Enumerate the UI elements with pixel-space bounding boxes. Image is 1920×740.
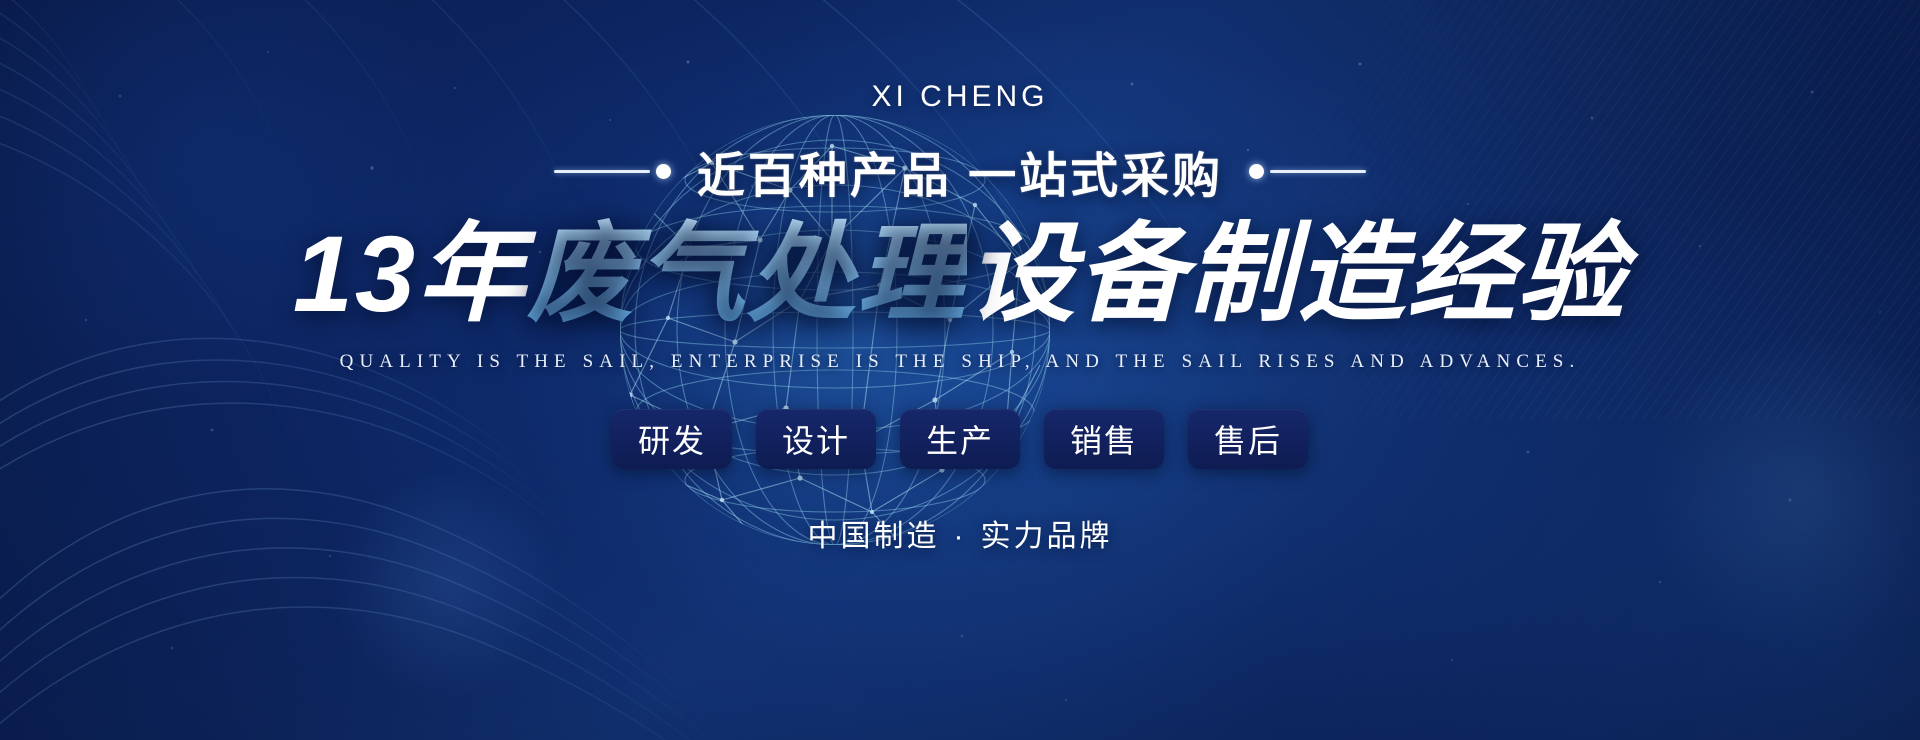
footer-slogan-left: 中国制造 bbox=[808, 520, 940, 553]
footer-separator-icon: · bbox=[940, 520, 981, 553]
english-tagline: QUALITY IS THE SAIL, ENTERPRISE IS THE S… bbox=[340, 351, 1581, 373]
hero-banner: XI CHENG 近百种产品 一站式采购 13年废气处理设备制造经验 QUALI… bbox=[0, 0, 1920, 740]
badge-sheji[interactable]: 设计 bbox=[756, 409, 876, 469]
banner-subtitle: 近百种产品 一站式采购 bbox=[697, 136, 1223, 206]
badge-yanfa[interactable]: 研发 bbox=[612, 409, 732, 469]
rule-dot-icon bbox=[1249, 164, 1264, 179]
left-rule-decoration bbox=[554, 164, 671, 179]
rule-line-icon bbox=[1270, 170, 1366, 173]
brand-name-english: XI CHENG bbox=[871, 80, 1048, 114]
footer-slogan: 中国制造·实力品牌 bbox=[808, 511, 1113, 555]
headline-accent: 废气处理 bbox=[527, 213, 967, 334]
subtitle-row: 近百种产品 一站式采购 bbox=[554, 136, 1366, 206]
badge-xiaoshou[interactable]: 销售 bbox=[1044, 409, 1164, 469]
badge-shengchan[interactable]: 生产 bbox=[900, 409, 1020, 469]
right-rule-decoration bbox=[1249, 164, 1366, 179]
rule-line-icon bbox=[554, 170, 650, 173]
rule-dot-icon bbox=[656, 164, 671, 179]
badge-shouhou[interactable]: 售后 bbox=[1188, 409, 1308, 469]
headline-tail: 设备制造经验 bbox=[967, 213, 1627, 334]
service-badge-list: 研发 设计 生产 销售 售后 bbox=[612, 409, 1308, 469]
banner-content: XI CHENG 近百种产品 一站式采购 13年废气处理设备制造经验 QUALI… bbox=[0, 0, 1920, 740]
banner-headline: 13年废气处理设备制造经验 bbox=[293, 214, 1627, 335]
footer-slogan-right: 实力品牌 bbox=[981, 520, 1113, 553]
headline-years: 13年 bbox=[293, 213, 527, 334]
